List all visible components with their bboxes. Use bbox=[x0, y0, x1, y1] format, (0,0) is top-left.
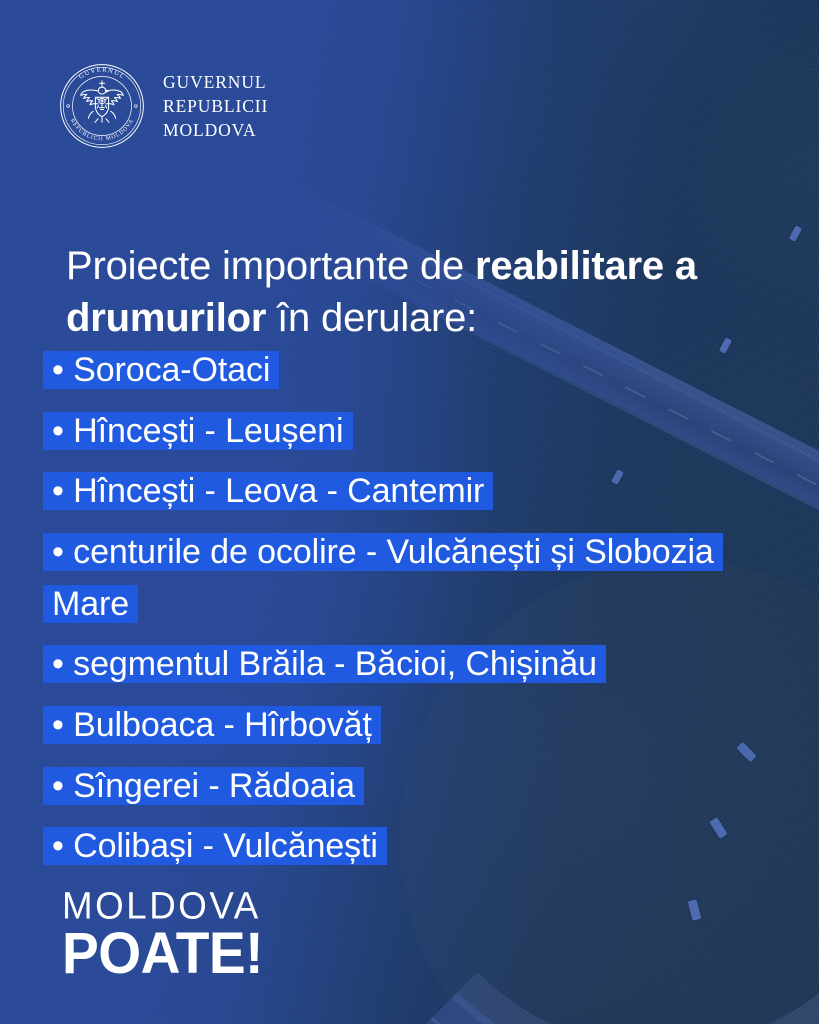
list-item: • Sîngerei - Rădoaia bbox=[52, 761, 772, 813]
project-label: • Sîngerei - Rădoaia bbox=[52, 767, 355, 805]
campaign-logo-line-2: POATE! bbox=[62, 927, 269, 982]
campaign-logo: MOLDOVA POATE! bbox=[62, 890, 257, 976]
org-line-1: GUVERNUL bbox=[163, 70, 268, 94]
list-item: • Bulboaca - Hîrbovăț bbox=[52, 700, 772, 752]
project-text: Sîngerei - Rădoaia bbox=[73, 767, 355, 805]
project-label: • Soroca-Otaci bbox=[52, 351, 270, 389]
list-item: • segmentul Brăila - Băcioi, Chișinău bbox=[52, 639, 772, 691]
poster-canvas: GUVERNUL REPUBLICII MOLDOVA bbox=[0, 0, 819, 1024]
project-text: Soroca-Otaci bbox=[73, 351, 270, 389]
bullet-glyph: • bbox=[52, 412, 64, 450]
project-label: • Colibași - Vulcănești bbox=[52, 827, 378, 865]
government-logo: GUVERNUL REPUBLICII MOLDOVA bbox=[58, 62, 268, 150]
list-item: • Colibași - Vulcănești bbox=[52, 821, 772, 873]
project-label: • Bulboaca - Hîrbovăț bbox=[52, 706, 372, 744]
list-item: • Hîncești - Leova - Cantemir bbox=[52, 466, 772, 518]
headline-part-1: Proiecte importante de bbox=[66, 244, 475, 288]
government-wordmark: GUVERNUL REPUBLICII MOLDOVA bbox=[163, 70, 268, 142]
bullet-glyph: • bbox=[52, 351, 64, 389]
bullet-glyph: • bbox=[52, 706, 64, 744]
project-text: centurile de ocolire - Vulcănești și Slo… bbox=[52, 533, 714, 623]
project-text: segmentul Brăila - Băcioi, Chișinău bbox=[73, 645, 597, 683]
project-label: • centurile de ocolire - Vulcănești și S… bbox=[52, 533, 714, 623]
headline-part-2 bbox=[664, 244, 675, 288]
campaign-logo-line-1: MOLDOVA bbox=[62, 888, 261, 925]
headline-emphasis-1: reabilitare bbox=[475, 244, 664, 288]
bullet-glyph: • bbox=[52, 645, 64, 683]
headline-part-3: în derulare: bbox=[266, 296, 477, 340]
bullet-glyph: • bbox=[52, 533, 64, 571]
list-item: • Hîncești - Leușeni bbox=[52, 406, 772, 458]
project-text: Hîncești - Leova - Cantemir bbox=[73, 472, 484, 510]
project-list: • Soroca-Otaci • Hîncești - Leușeni • Hî… bbox=[52, 345, 772, 882]
project-label: • Hîncești - Leușeni bbox=[52, 412, 344, 450]
org-line-3: MOLDOVA bbox=[163, 118, 268, 142]
org-line-2: REPUBLICII bbox=[163, 94, 268, 118]
project-text: Colibași - Vulcănești bbox=[73, 827, 378, 865]
project-text: Bulboaca - Hîrbovăț bbox=[73, 706, 372, 744]
page-title: Proiecte importante de reabilitare a dru… bbox=[66, 240, 756, 344]
list-item: • Soroca-Otaci bbox=[52, 345, 772, 397]
bullet-glyph: • bbox=[52, 827, 64, 865]
bullet-glyph: • bbox=[52, 472, 64, 510]
bullet-glyph: • bbox=[52, 767, 64, 805]
project-label: • segmentul Brăila - Băcioi, Chișinău bbox=[52, 645, 597, 683]
list-item: • centurile de ocolire - Vulcănești și S… bbox=[52, 527, 772, 630]
project-label: • Hîncești - Leova - Cantemir bbox=[52, 472, 484, 510]
project-text: Hîncești - Leușeni bbox=[73, 412, 343, 450]
poster-content: GUVERNUL REPUBLICII MOLDOVA bbox=[0, 0, 819, 1024]
moldova-state-seal-icon: GUVERNUL REPUBLICII MOLDOVA bbox=[58, 62, 146, 150]
